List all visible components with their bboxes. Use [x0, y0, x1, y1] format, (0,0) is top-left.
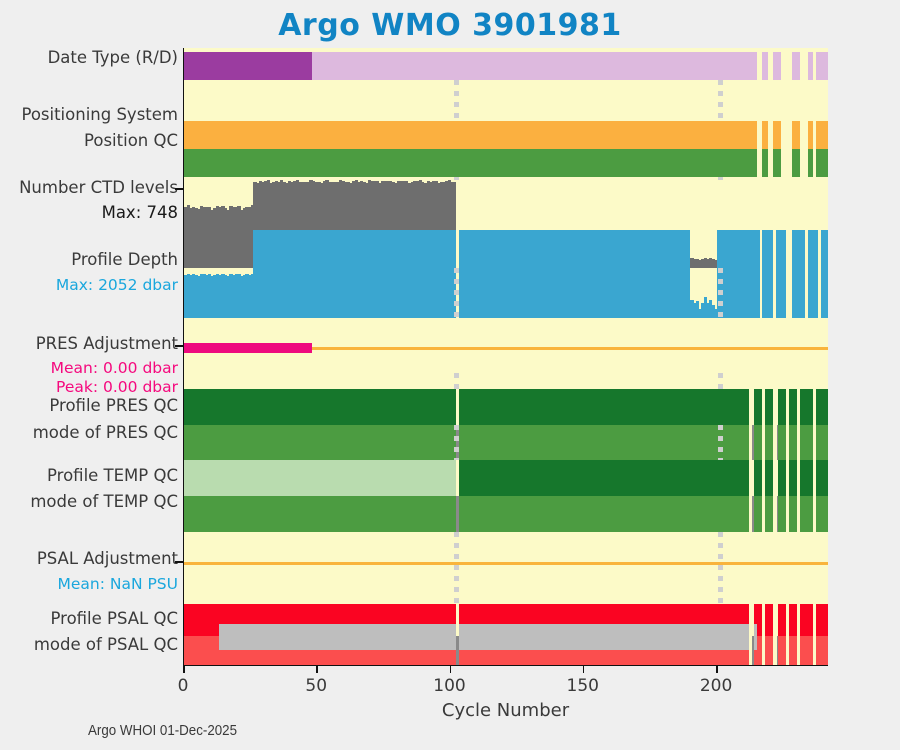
ytick-pres — [175, 345, 183, 347]
cycle-marker-line — [718, 268, 723, 323]
positioning-system-gap — [781, 121, 792, 149]
psal-overlay-gap — [762, 624, 765, 650]
profile-pres-qc-gap — [456, 389, 459, 425]
profile-pres-qc-band — [184, 389, 828, 425]
positioning-system-band — [184, 121, 828, 149]
mode-temp-qc-missing — [456, 496, 459, 532]
page-title: Argo WMO 3901981 — [0, 8, 900, 43]
mode-psal-qc-missing — [777, 636, 778, 666]
credit-text: Argo WHOI 01-Dec-2025 — [88, 723, 237, 739]
mode-psal-qc-missing — [456, 636, 459, 666]
mode-pres-qc-band — [184, 425, 828, 461]
profile-temp-qc-gap — [797, 460, 800, 496]
profile-temp-qc-band — [184, 460, 456, 496]
x-axis-tick-label: 150 — [567, 676, 599, 696]
row-sublabel-depth-max: Max: 2052 dbar — [56, 278, 178, 294]
ytick-psal — [175, 561, 183, 563]
mode-pres-qc-missing — [752, 425, 753, 461]
row-label-mode-temp-qc: mode of TEMP QC — [30, 494, 178, 511]
psal-overlay-gap — [797, 624, 800, 650]
mode-temp-qc-band — [184, 496, 828, 532]
profile-depth-bar — [762, 230, 773, 318]
cycle-marker-line — [718, 532, 723, 604]
profile-temp-qc-gap — [762, 460, 765, 496]
row-label-mode-psal-qc: mode of PSAL QC — [34, 637, 178, 654]
row-label-positioning-system: Positioning System — [21, 107, 178, 124]
date-type-gap — [757, 52, 762, 80]
profile-depth-bar — [749, 230, 760, 318]
position-qc-gap — [800, 149, 808, 177]
profile-temp-qc-gap — [786, 460, 789, 496]
row-label-profile-pres-qc: Profile PRES QC — [49, 398, 178, 415]
psal-qc-grey-overlay — [219, 624, 757, 650]
row-label-pres-adjustment: PRES Adjustment — [36, 336, 178, 353]
positioning-system-gap — [757, 121, 762, 149]
cycle-marker-line — [454, 268, 459, 323]
row-sublabel-pres-peak: Peak: 0.00 dbar — [56, 380, 178, 396]
position-qc-gap — [757, 149, 762, 177]
mode-pres-qc-missing — [777, 425, 778, 461]
psal-zero-line — [184, 562, 828, 565]
x-axis-tick — [316, 666, 318, 673]
row-label-psal-adjustment: PSAL Adjustment — [37, 551, 178, 568]
mode-pres-qc-gap — [762, 425, 765, 461]
mode-pres-qc-gap — [797, 425, 800, 461]
x-axis-tick — [716, 666, 718, 673]
position-qc-band — [184, 149, 828, 177]
position-qc-gap — [768, 149, 773, 177]
chart-plot-area[interactable] — [183, 48, 828, 666]
profile-pres-qc-gap — [749, 389, 754, 425]
profile-pres-qc-gap — [813, 389, 816, 425]
row-label-mode-pres-qc: mode of PRES QC — [33, 425, 178, 442]
mode-pres-qc-gap — [786, 425, 789, 461]
cycle-marker-line — [718, 425, 723, 460]
cycle-marker-line — [454, 425, 459, 460]
profile-depth-bar — [821, 230, 828, 318]
x-axis-tick — [450, 666, 452, 673]
mode-temp-qc-gap — [797, 496, 800, 532]
x-axis-tick — [583, 666, 585, 673]
psal-overlay-gap — [786, 624, 789, 650]
ytick-ctd — [175, 188, 183, 190]
x-axis-tick-label: 50 — [305, 676, 327, 696]
row-label-profile-temp-qc: Profile TEMP QC — [47, 468, 178, 485]
cycle-marker-line — [718, 177, 723, 180]
profile-pres-qc-gap — [773, 389, 778, 425]
psal-overlay-gap — [813, 624, 816, 650]
profile-depth-bar — [459, 230, 691, 318]
profile-depth-bar — [776, 230, 787, 318]
cycle-marker-line — [454, 80, 459, 121]
position-qc-gap — [813, 149, 816, 177]
profile-depth-bar — [253, 230, 456, 318]
mode-temp-qc-missing — [777, 496, 778, 532]
profile-pres-qc-gap — [786, 389, 789, 425]
mode-temp-qc-gap — [762, 496, 765, 532]
row-label-profile-depth: Profile Depth — [71, 252, 178, 269]
date-type-band — [312, 52, 828, 80]
positioning-system-gap — [800, 121, 808, 149]
row-sublabel-psal-mean: Mean: NaN PSU — [57, 577, 178, 593]
x-axis-label: Cycle Number — [183, 700, 828, 721]
date-type-gap — [813, 52, 816, 80]
mode-pres-qc-gap — [813, 425, 816, 461]
mode-psal-qc-missing — [752, 636, 753, 666]
mode-temp-qc-gap — [813, 496, 816, 532]
row-label-profile-psal-qc: Profile PSAL QC — [50, 611, 178, 628]
profile-pres-qc-gap — [797, 389, 800, 425]
x-axis-tick — [183, 666, 185, 673]
positioning-system-gap — [813, 121, 816, 149]
profile-pres-qc-gap — [762, 389, 765, 425]
profile-psal-qc-gap — [456, 604, 459, 636]
row-label-ctd-levels: Number CTD levels — [19, 180, 178, 197]
x-axis-tick-label: 0 — [178, 676, 189, 696]
profile-temp-qc-gap — [813, 460, 816, 496]
position-qc-gap — [781, 149, 792, 177]
positioning-system-gap — [768, 121, 773, 149]
row-label-date-type: Date Type (R/D) — [48, 50, 178, 67]
mode-temp-qc-missing — [752, 496, 753, 532]
cycle-marker-line — [454, 532, 459, 604]
date-type-gap — [781, 52, 792, 80]
mode-temp-qc-gap — [786, 496, 789, 532]
date-type-gap — [768, 52, 773, 80]
row-sublabel-ctd-max: Max: 748 — [102, 205, 178, 222]
row-sublabel-pres-mean: Mean: 0.00 dbar — [51, 361, 178, 377]
row-label-position-qc: Position QC — [84, 133, 178, 150]
profile-temp-qc-gap — [749, 460, 754, 496]
profile-temp-qc-gap — [456, 460, 459, 496]
profile-depth-bar — [808, 230, 819, 318]
x-axis-tick-label: 200 — [700, 676, 732, 696]
x-axis-tick-label: 100 — [433, 676, 465, 696]
cycle-marker-line — [454, 177, 459, 180]
pres-adjustment-bar — [184, 343, 312, 353]
cycle-marker-line — [454, 373, 459, 389]
profile-depth-bar — [792, 230, 805, 318]
cycle-marker-line — [718, 80, 723, 121]
date-type-gap — [800, 52, 808, 80]
date-type-band — [184, 52, 312, 80]
cycle-marker-line — [718, 373, 723, 389]
profile-temp-qc-gap — [773, 460, 778, 496]
